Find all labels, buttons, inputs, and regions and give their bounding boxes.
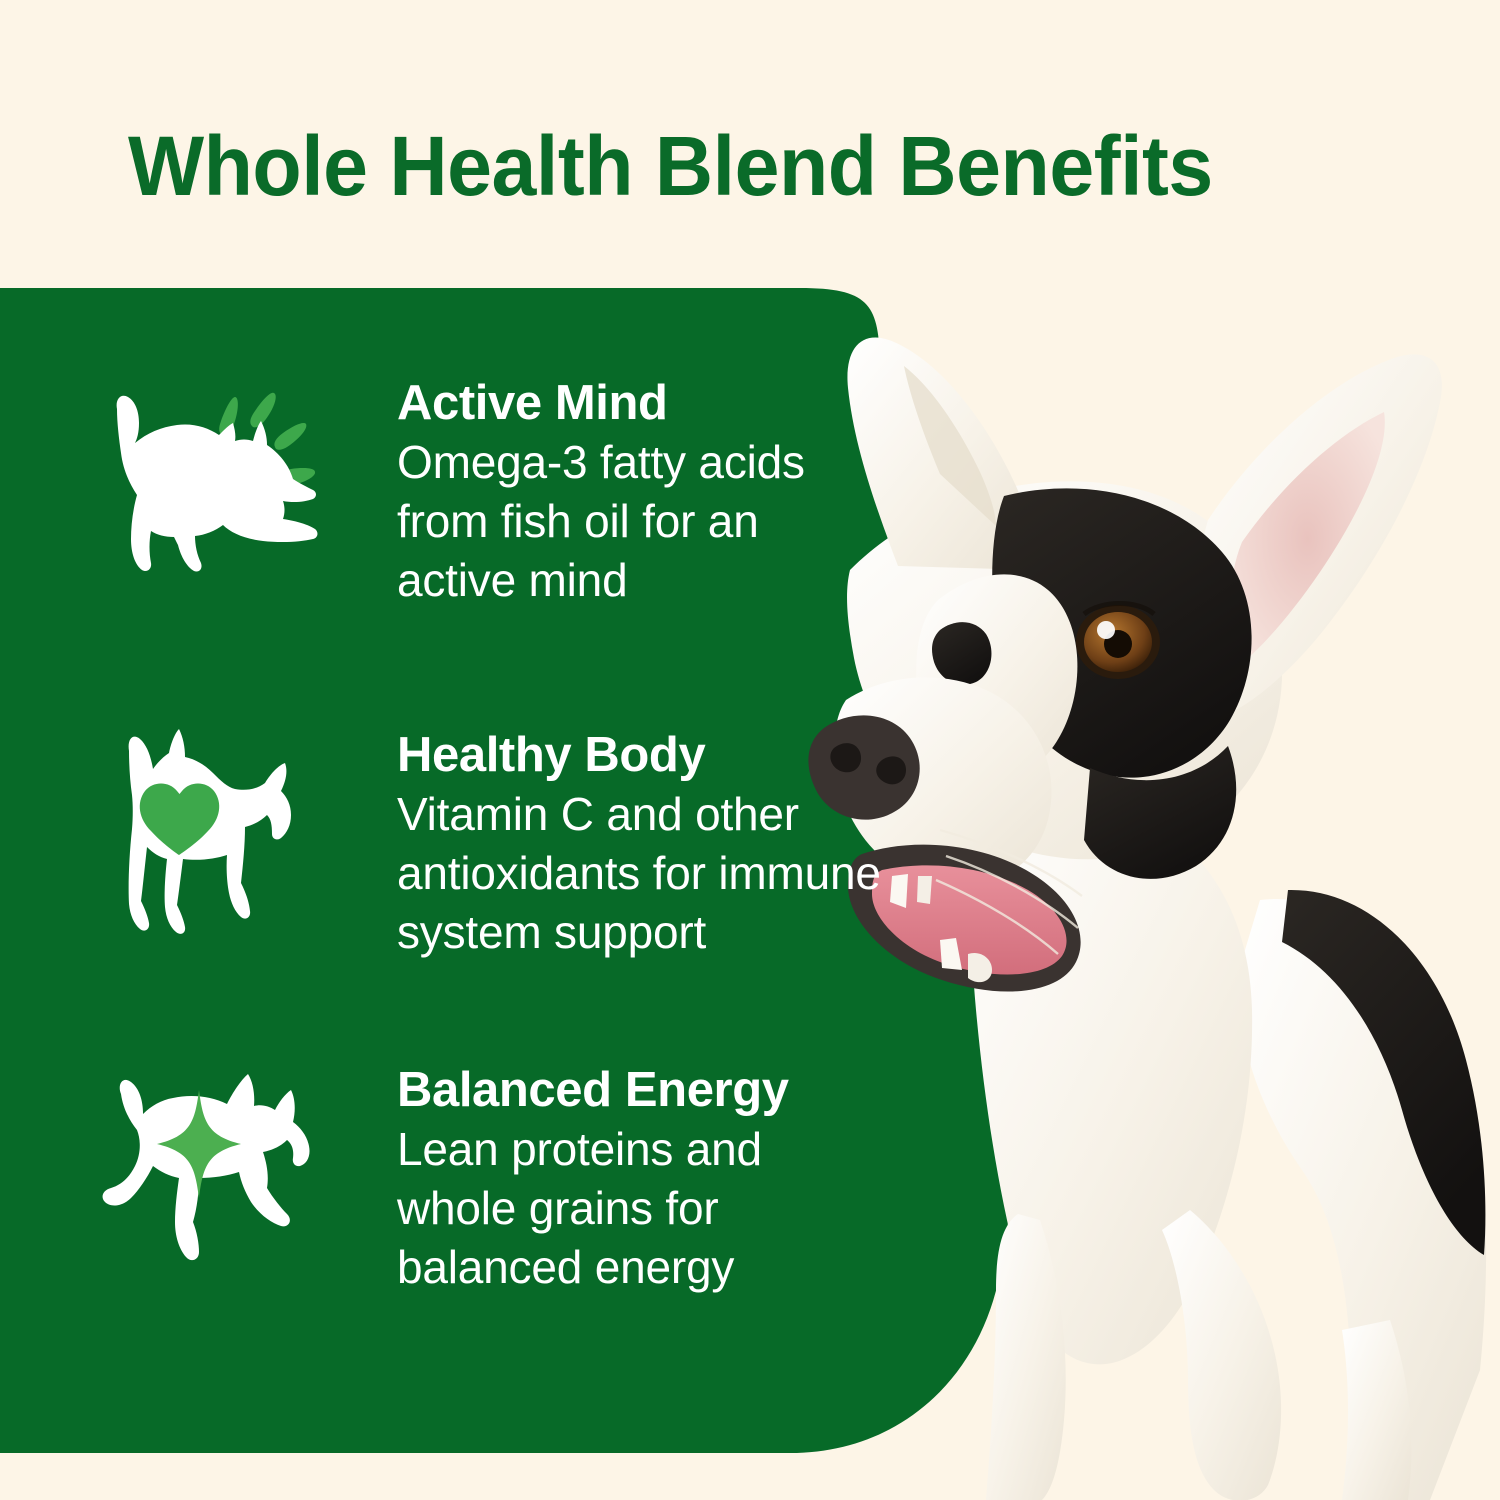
benefit-item-healthy-body: Healthy Body Vitamin C and other antioxi… (95, 725, 1037, 962)
benefit-text-block: Balanced Energy Lean proteins and whole … (325, 1060, 867, 1297)
dog-trotting-sparkle-icon (95, 1060, 325, 1270)
dog-play-bow-sparks-icon (95, 373, 325, 583)
benefit-description: Omega-3 fatty acids from fish oil for an… (397, 433, 867, 610)
page-title: Whole Health Blend Benefits (128, 118, 1213, 214)
benefit-text-block: Healthy Body Vitamin C and other antioxi… (325, 725, 1037, 962)
benefit-item-active-mind: Active Mind Omega-3 fatty acids from fis… (95, 373, 867, 610)
benefit-text-block: Active Mind Omega-3 fatty acids from fis… (325, 373, 867, 610)
benefit-description: Lean proteins and whole grains for balan… (397, 1120, 867, 1297)
benefit-title: Balanced Energy (397, 1062, 867, 1118)
dog-standing-heart-icon (95, 725, 325, 935)
benefit-description: Vitamin C and other antioxidants for imm… (397, 785, 1037, 962)
benefit-title: Healthy Body (397, 727, 1037, 783)
product-benefits-banner: Whole Health Blend Benefits (0, 0, 1500, 1500)
benefit-item-balanced-energy: Balanced Energy Lean proteins and whole … (95, 1060, 867, 1297)
benefit-title: Active Mind (397, 375, 867, 431)
